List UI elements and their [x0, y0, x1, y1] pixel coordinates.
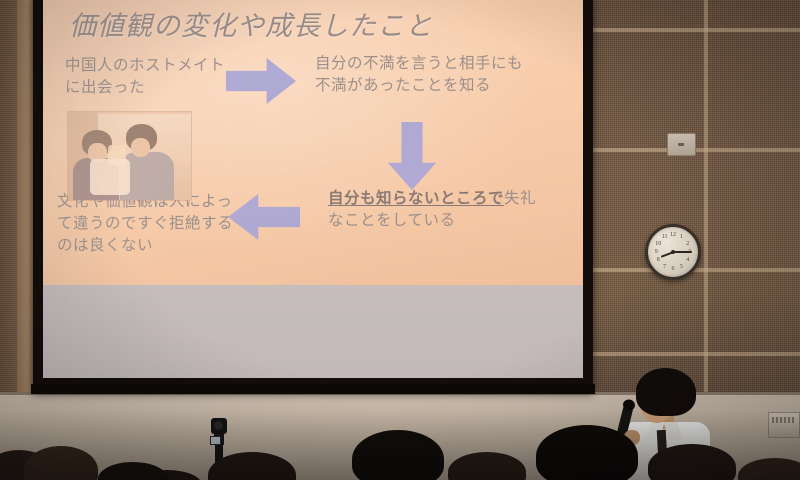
clock-numeral: 7 — [663, 264, 666, 270]
clock-center-pin — [671, 250, 675, 254]
wall-edge-strip — [0, 0, 17, 392]
clock-numeral: 10 — [655, 241, 661, 247]
clock-numeral: 5 — [680, 264, 683, 270]
presentation-room-scene: 12 1 2 3 4 5 6 7 8 9 10 11 価値観の変化や成長したこと… — [0, 0, 800, 480]
projection-screen-surface: 価値観の変化や成長したこと 中国人のホストメイトに出会った 自分の不満を言うと相… — [43, 0, 583, 378]
clock-numeral: 2 — [686, 241, 689, 247]
slide-text-emphasis: 自分も知らないところで — [328, 190, 504, 207]
clock-numeral: 9 — [655, 249, 658, 255]
clock-numeral: 6 — [672, 266, 675, 272]
clock-numeral: 12 — [670, 232, 676, 238]
slide-text-bottom-left: 文化や価値観は人によって違うのですぐ拒絶するのは良くない — [57, 191, 237, 257]
slide-text-know: 自分の不満を言うと相手にも不満があったことを知る — [315, 53, 535, 97]
arrow-left-icon — [228, 194, 300, 240]
slide-text-bottom-right: 自分も知らないところで失礼なことをしている — [328, 188, 543, 232]
clock-minute-hand — [673, 251, 692, 253]
camera-lens-icon — [214, 421, 223, 430]
wall-sensor-plate-icon — [667, 133, 696, 156]
slide-photo — [68, 112, 191, 200]
clock-numeral: 11 — [662, 234, 668, 240]
clock-numeral: 1 — [680, 234, 683, 240]
audience-head — [352, 430, 444, 480]
wall-outlet-panel-icon — [768, 412, 800, 438]
clock-numeral: 4 — [686, 257, 689, 263]
presentation-slide: 価値観の変化や成長したこと 中国人のホストメイトに出会った 自分の不満を言うと相… — [43, 0, 583, 285]
audience-head — [536, 425, 638, 480]
wall-clock: 12 1 2 3 4 5 6 7 8 9 10 11 — [645, 224, 701, 280]
slide-title: 価値観の変化や成長したこと — [69, 4, 433, 43]
projection-screen-frame: 価値観の変化や成長したこと 中国人のホストメイトに出会った 自分の不満を言うと相… — [33, 0, 593, 392]
arrow-down-icon — [388, 122, 436, 190]
arrow-right-icon — [226, 58, 296, 104]
clock-numeral: 8 — [657, 257, 660, 263]
slide-text-meet: 中国人のホストメイトに出会った — [65, 55, 225, 99]
